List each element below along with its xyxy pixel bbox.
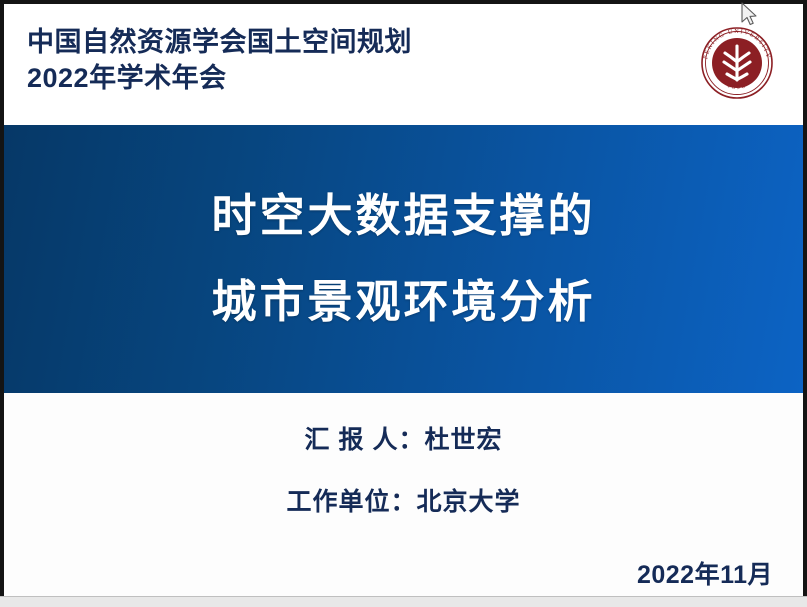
conference-title-line-2: 2022年学术年会 — [27, 60, 587, 96]
conference-title-block: 中国自然资源学会国土空间规划 2022年学术年会 — [27, 24, 587, 96]
slide-title-line-1: 时空大数据支撑的 — [211, 173, 595, 259]
presentation-viewport: 中国自然资源学会国土空间规划 2022年学术年会 — [0, 0, 807, 607]
peking-university-logo: PEKING UNIVERSITY 1898 — [694, 16, 780, 106]
presenter-name-line: 汇 报 人：杜世宏 — [4, 409, 803, 471]
player-right-rail — [803, 4, 807, 597]
slide-canvas: 中国自然资源学会国土空间规划 2022年学术年会 — [4, 4, 803, 597]
player-bottom-bar — [0, 596, 807, 607]
slide-title-band: 时空大数据支撑的 城市景观环境分析 — [4, 125, 803, 393]
presenter-affiliation-line: 工作单位：北京大学 — [4, 471, 803, 533]
slide-title-line-2: 城市景观环境分析 — [211, 259, 595, 345]
presenter-block: 汇 报 人：杜世宏 工作单位：北京大学 — [4, 409, 803, 533]
slide-header: 中国自然资源学会国土空间规划 2022年学术年会 — [4, 4, 803, 125]
peking-university-seal-icon: PEKING UNIVERSITY 1898 — [694, 16, 780, 106]
slide-date: 2022年11月 — [637, 555, 773, 591]
conference-title-line-1: 中国自然资源学会国土空间规划 — [27, 24, 587, 60]
